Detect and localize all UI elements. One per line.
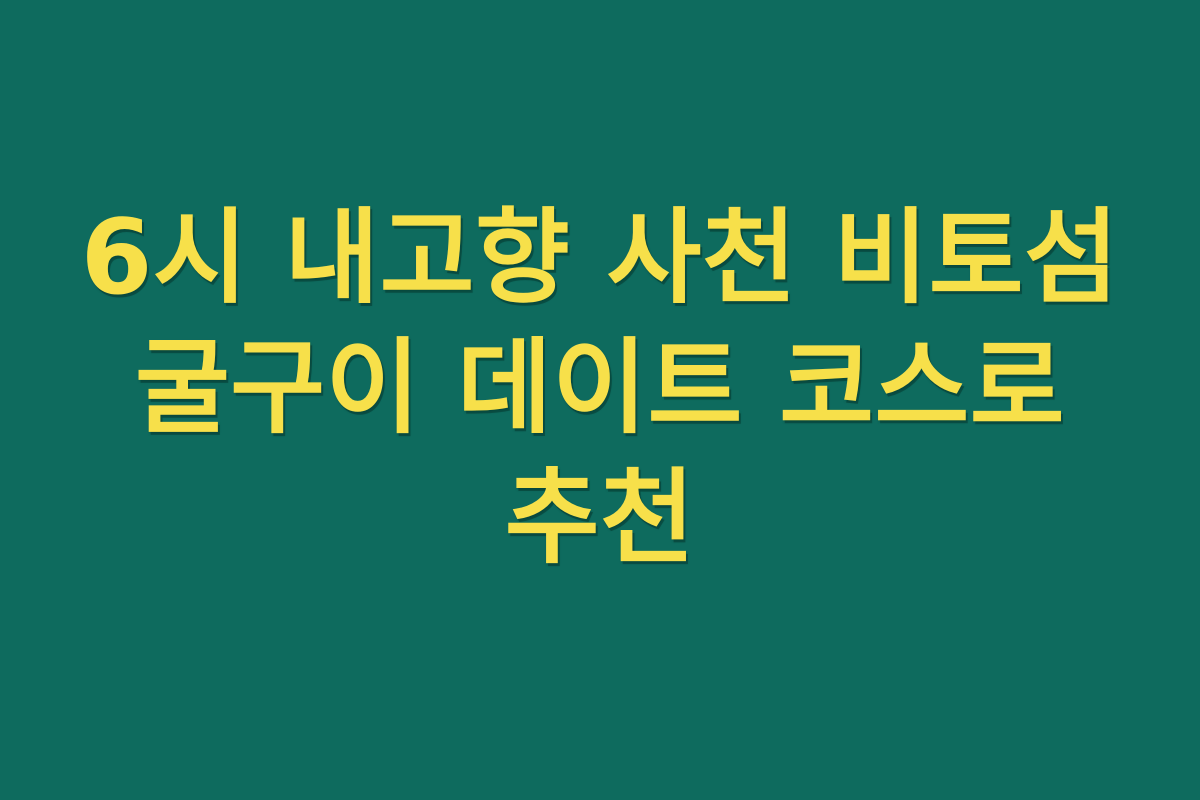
title-text-block: 6시 내고향 사천 비토섬 굴구이 데이트 코스로 추천: [50, 193, 1150, 583]
title-line-1: 6시 내고향 사천 비토섬: [74, 193, 1126, 323]
title-line-2: 굴구이 데이트 코스로: [74, 323, 1126, 453]
title-card: 6시 내고향 사천 비토섬 굴구이 데이트 코스로 추천: [0, 0, 1200, 800]
title-line-3: 추천: [74, 453, 1126, 583]
